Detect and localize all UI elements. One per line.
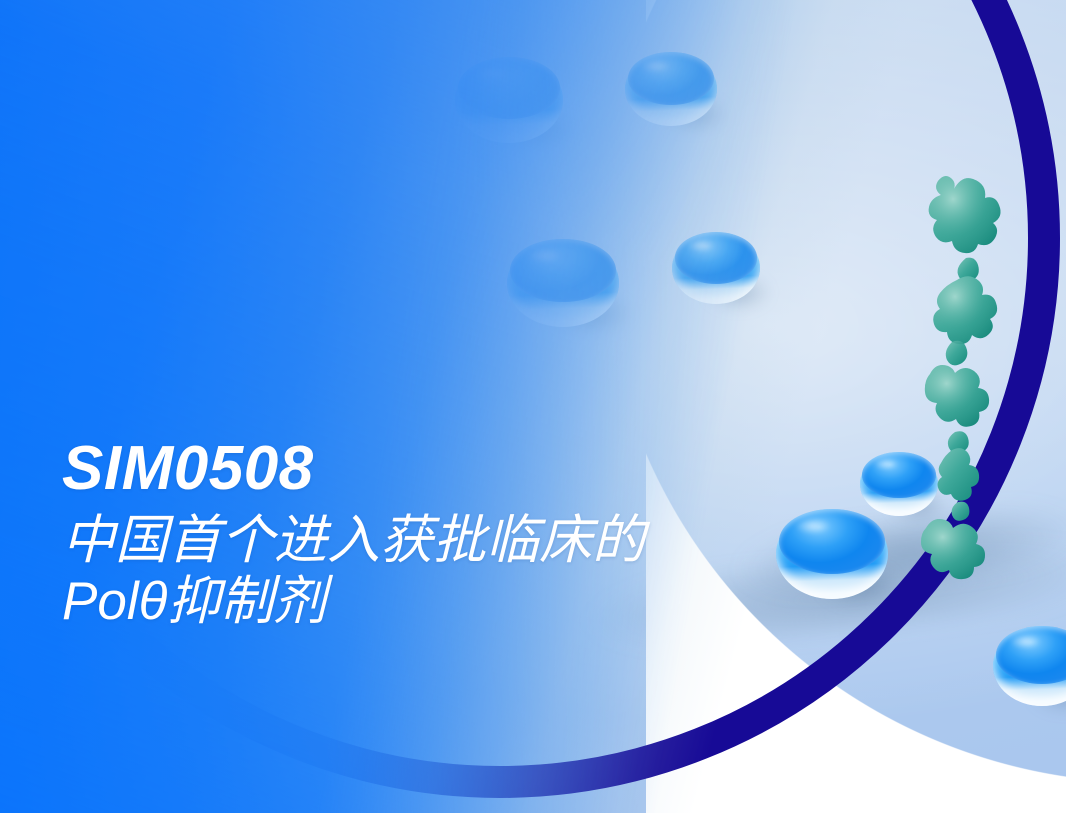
pill-tablet xyxy=(507,239,619,327)
subheadline-line-2: Polθ抑制剂 xyxy=(62,571,842,632)
product-name: SIM0508 xyxy=(62,438,842,500)
headline-block: SIM0508 中国首个进入获批临床的 Polθ抑制剂 xyxy=(62,438,842,633)
pill-highlight xyxy=(518,244,570,267)
subheadline-line-1: 中国首个进入获批临床的 xyxy=(62,510,842,571)
protein-surface-model xyxy=(900,160,1030,580)
slide-canvas: SIM0508 中国首个进入获批临床的 Polθ抑制剂 xyxy=(0,0,1066,813)
pill-tablet xyxy=(455,57,563,143)
pill-highlight xyxy=(466,62,516,84)
